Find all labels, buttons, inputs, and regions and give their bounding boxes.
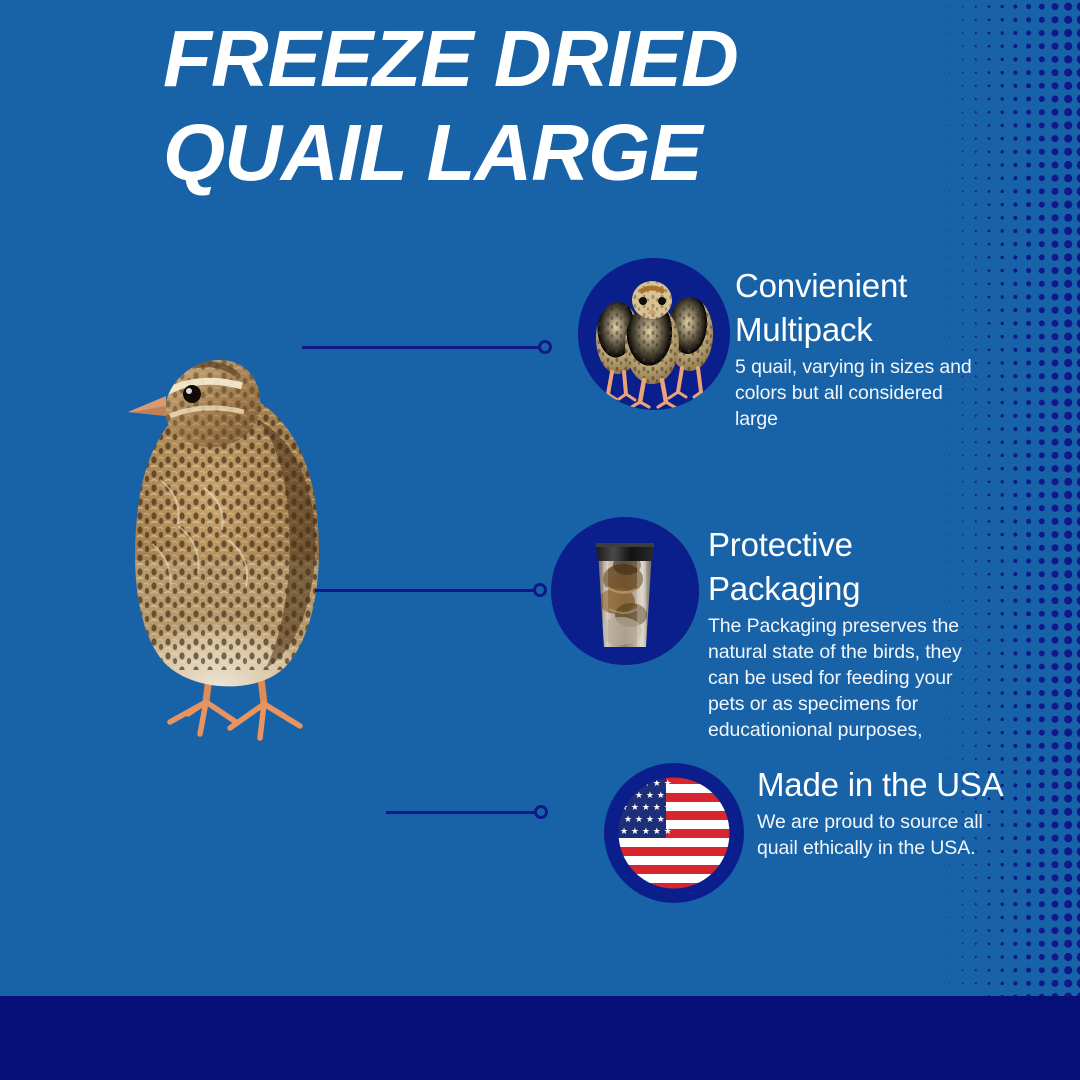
feature-heading-usa: Made in the USA xyxy=(757,763,1025,807)
feature-body-usa: We are proud to source all quail ethical… xyxy=(757,809,1025,861)
svg-text:★ ★ ★ ★: ★ ★ ★ ★ xyxy=(624,815,665,825)
feature-made-in-usa: ★ ★ ★ ★ ★ ★ ★ ★ ★ ★ ★ ★ ★ ★ ★ ★ ★ ★ ★ ★ … xyxy=(0,0,1080,1080)
product-infographic: FREEZE DRIED QUAIL LARGE xyxy=(0,0,1080,1080)
svg-text:★ ★ ★ ★ ★: ★ ★ ★ ★ ★ xyxy=(620,803,672,813)
usa-flag-icon: ★ ★ ★ ★ ★ ★ ★ ★ ★ ★ ★ ★ ★ ★ ★ ★ ★ ★ ★ ★ … xyxy=(601,760,747,906)
footer-bar xyxy=(0,996,1080,1080)
svg-text:★ ★ ★ ★ ★: ★ ★ ★ ★ ★ xyxy=(620,827,672,837)
feature-icon-usa: ★ ★ ★ ★ ★ ★ ★ ★ ★ ★ ★ ★ ★ ★ ★ ★ ★ ★ ★ ★ … xyxy=(601,760,747,906)
feature-text-usa: Made in the USA We are proud to source a… xyxy=(757,763,1025,861)
